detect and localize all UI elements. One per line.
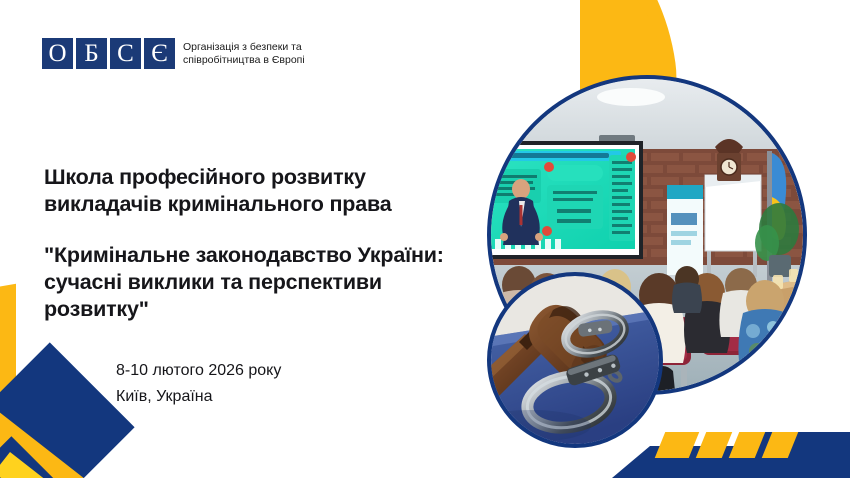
osce-tagline: Організація з безпеки та співробітництва… (183, 41, 305, 67)
bottom-left-yellow-stripe-small (0, 452, 105, 478)
event-subtitle-line-2: сучасні виклики та перспективи (44, 270, 382, 294)
bottom-right-navy-band-top (740, 432, 850, 452)
osce-logo: О Б С Є Організація з безпеки та співроб… (42, 38, 305, 69)
logo-letter-o: О (42, 38, 73, 69)
event-location: Київ, Україна (116, 384, 446, 410)
event-title-line-1: Школа професійного розвитку (44, 165, 366, 189)
osce-tagline-line-2: співробітництва в Європі (183, 54, 305, 67)
event-title: Школа професійного розвитку викладачів к… (44, 164, 454, 218)
bottom-left-navy-chevron-small (0, 436, 54, 478)
logo-letter-b: Б (76, 38, 107, 69)
osce-logo-marks: О Б С Є (42, 38, 175, 69)
event-subtitle-line-3: розвитку" (44, 297, 149, 321)
bottom-right-navy-band (612, 446, 850, 478)
osce-tagline-line-1: Організація з безпеки та (183, 41, 305, 54)
photo-gavel-handcuffs-illustration (491, 276, 659, 444)
poster-canvas: О Б С Є Організація з безпеки та співроб… (0, 0, 850, 478)
yellow-slash-2 (696, 432, 733, 458)
yellow-slash-3 (729, 432, 766, 458)
headline-block: Школа професійного розвитку викладачів к… (44, 164, 454, 323)
left-edge-yellow-strip (0, 284, 16, 439)
yellow-slash-1 (655, 432, 700, 458)
event-title-line-2: викладачів кримінального права (44, 192, 391, 216)
event-subtitle: "Кримінальне законодавство України: суча… (44, 242, 454, 323)
photo-gavel-handcuffs (487, 272, 663, 448)
event-meta: 8-10 лютого 2026 року Київ, Україна (116, 358, 446, 410)
bottom-left-navy-chevron (0, 342, 135, 478)
event-subtitle-line-1: "Кримінальне законодавство України: (44, 243, 444, 267)
yellow-slash-4 (762, 432, 799, 458)
bottom-right-yellow-slashes (660, 432, 800, 458)
logo-letter-ye: Є (144, 38, 175, 69)
logo-letter-s: С (110, 38, 141, 69)
event-dates: 8-10 лютого 2026 року (116, 358, 446, 384)
